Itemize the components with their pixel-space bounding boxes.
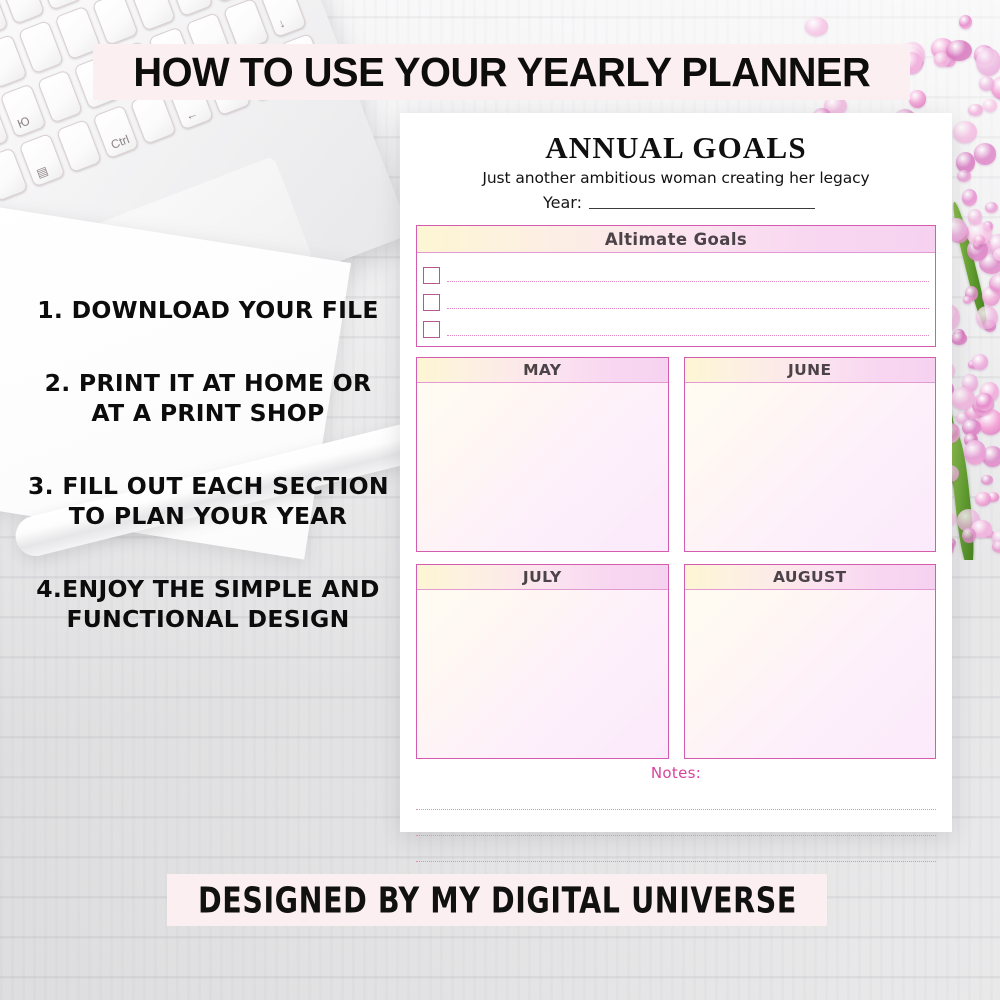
lilac-blossom (962, 528, 976, 543)
lilac-blossom (972, 354, 989, 370)
lilac-blossom (974, 235, 985, 245)
months-grid: MAYJUNEJULYAUGUST (416, 357, 936, 759)
goal-checkbox-3[interactable] (423, 321, 440, 338)
lilac-blossom (951, 332, 967, 345)
instruction-step-2: 2. PRINT IT AT HOME ORAT A PRINT SHOP (28, 368, 388, 429)
month-writing-area-august[interactable] (685, 590, 936, 758)
planner-title: ANNUAL GOALS (412, 130, 940, 166)
instruction-step-3: 3. FILL OUT EACH SECTIONTO PLAN YOUR YEA… (28, 471, 388, 532)
year-field-row: Year: (412, 193, 940, 212)
lilac-blossom (953, 121, 977, 144)
lilac-blossom (976, 306, 998, 330)
month-box-july: JULY (416, 564, 669, 759)
month-header-july: JULY (417, 565, 668, 590)
goal-row (423, 312, 929, 339)
lilac-blossom (976, 393, 994, 410)
lilac-blossom (959, 15, 972, 28)
lilac-blossom (805, 17, 828, 36)
instruction-step-1-line-1: 1. DOWNLOAD YOUR FILE (28, 295, 388, 326)
goal-row (423, 258, 929, 285)
ultimate-goals-heading: Altimate Goals (605, 230, 747, 249)
note-line-1[interactable] (416, 784, 936, 810)
month-box-june: JUNE (684, 357, 937, 552)
year-input[interactable] (589, 208, 815, 209)
month-writing-area-july[interactable] (417, 590, 668, 758)
lilac-blossom (985, 202, 999, 214)
notes-lines (416, 784, 936, 862)
lilac-blossom (909, 90, 927, 108)
designer-credit: DESIGNED BY MY DIGITAL UNIVERSE (198, 879, 797, 922)
ultimate-goals-header: Altimate Goals (417, 226, 935, 253)
month-box-may: MAY (416, 357, 669, 552)
ultimate-goals-box: Altimate Goals (416, 225, 936, 347)
title-banner: HOW TO USE YOUR YEARLY PLANNER (93, 44, 910, 100)
lilac-blossom (962, 189, 977, 205)
month-writing-area-may[interactable] (417, 383, 668, 551)
lilac-blossom (976, 48, 1000, 76)
goal-checkbox-1[interactable] (423, 267, 440, 284)
planner-page: ANNUAL GOALS Just another ambitious woma… (400, 113, 952, 832)
keyboard-key (55, 119, 102, 174)
keyboard-key-ctrl: Ctrl (93, 104, 140, 159)
page-title: HOW TO USE YOUR YEARLY PLANNER (133, 49, 870, 96)
keyboard-key (36, 69, 83, 124)
lilac-blossom (964, 440, 987, 465)
ultimate-goals-rows (417, 253, 935, 346)
goal-input-2[interactable] (447, 308, 929, 309)
instruction-step-4-line-1: 4.ENJOY THE SIMPLE AND (28, 574, 388, 605)
month-name: AUGUST (773, 568, 847, 586)
lilac-blossom (981, 475, 993, 486)
instruction-step-4-line-2: FUNCTIONAL DESIGN (28, 604, 388, 635)
lilac-blossom (946, 40, 972, 61)
goal-row (423, 285, 929, 312)
goal-checkbox-2[interactable] (423, 294, 440, 311)
lilac-blossom (992, 540, 1000, 554)
planner-subtitle: Just another ambitious woman creating he… (412, 169, 940, 187)
keyboard-key (92, 0, 139, 46)
lilac-blossom (983, 99, 997, 113)
scene: РЗ[ХЖEnterЛДБ>Ю/↓Alt▤Ctrl← HOW TO USE YO… (0, 0, 1000, 1000)
footer-banner: DESIGNED BY MY DIGITAL UNIVERSE (167, 874, 827, 926)
month-name: JULY (523, 568, 562, 586)
instruction-step-2-line-1: 2. PRINT IT AT HOME OR (28, 368, 388, 399)
keyboard-key (0, 0, 46, 25)
notes-label: Notes: (416, 764, 936, 782)
month-header-may: MAY (417, 358, 668, 383)
month-box-august: AUGUST (684, 564, 937, 759)
instruction-step-4: 4.ENJOY THE SIMPLE ANDFUNCTIONAL DESIGN (28, 574, 388, 635)
instruction-step-1: 1. DOWNLOAD YOUR FILE (28, 295, 388, 326)
lilac-blossom (957, 170, 971, 182)
month-name: JUNE (788, 361, 832, 379)
lilac-blossom (951, 387, 975, 411)
lilac-blossom (979, 76, 994, 91)
instruction-step-3-line-1: 3. FILL OUT EACH SECTION (28, 471, 388, 502)
month-name: MAY (523, 361, 561, 379)
month-header-june: JUNE (685, 358, 936, 383)
keyboard-key (17, 20, 64, 75)
lilac-blossom (975, 492, 991, 506)
lilac-blossom (963, 296, 972, 304)
lilac-blossom (968, 104, 983, 116)
instruction-step-2-line-2: AT A PRINT SHOP (28, 398, 388, 429)
lilac-blossom (974, 143, 997, 164)
instruction-list: 1. DOWNLOAD YOUR FILE2. PRINT IT AT HOME… (28, 295, 388, 635)
goal-input-1[interactable] (447, 281, 929, 282)
goal-input-3[interactable] (447, 335, 929, 336)
note-line-2[interactable] (416, 810, 936, 836)
month-header-august: AUGUST (685, 565, 936, 590)
keyboard-key-ю: Ю (0, 83, 46, 138)
notes-section: Notes: (416, 764, 936, 862)
note-line-3[interactable] (416, 836, 936, 862)
instruction-step-3-line-2: TO PLAN YOUR YEAR (28, 501, 388, 532)
keyboard-key-▤: ▤ (18, 133, 65, 188)
year-label: Year: (543, 193, 582, 212)
month-writing-area-june[interactable] (685, 383, 936, 551)
